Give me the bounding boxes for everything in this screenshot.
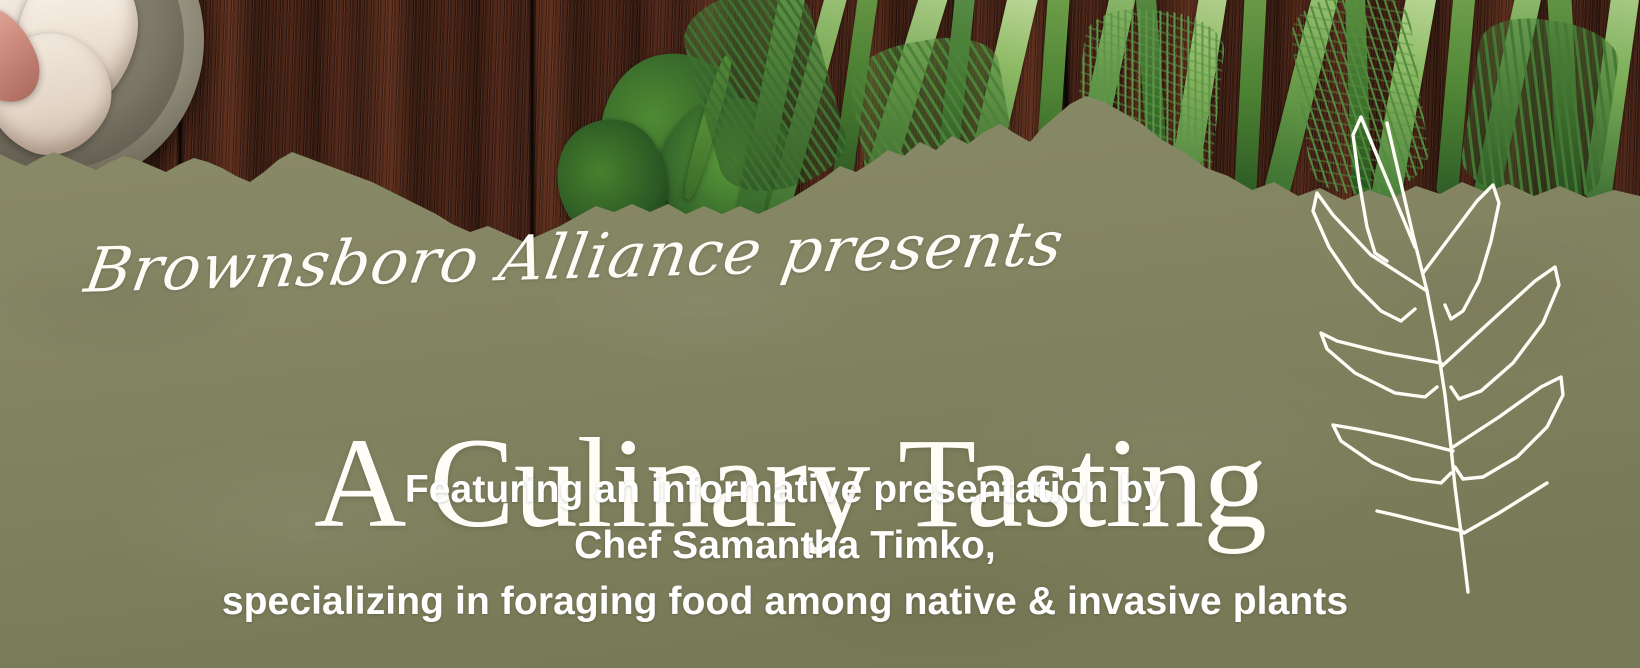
subtitle-line-3: specializing in foraging food among nati…: [0, 574, 1570, 630]
subtitle-line-1: Featuring an informative presentation by: [0, 462, 1570, 518]
subtitle-line-2: Chef Samantha Timko,: [0, 518, 1570, 574]
subtitle-block: Featuring an informative presentation by…: [0, 462, 1570, 630]
banner-text-layer: Brownsboro Alliance presents A Culinary …: [0, 0, 1640, 668]
eyebrow-script-text: Brownsboro Alliance presents: [81, 216, 936, 301]
culinary-tasting-banner: Brownsboro Alliance presents A Culinary …: [0, 0, 1640, 668]
